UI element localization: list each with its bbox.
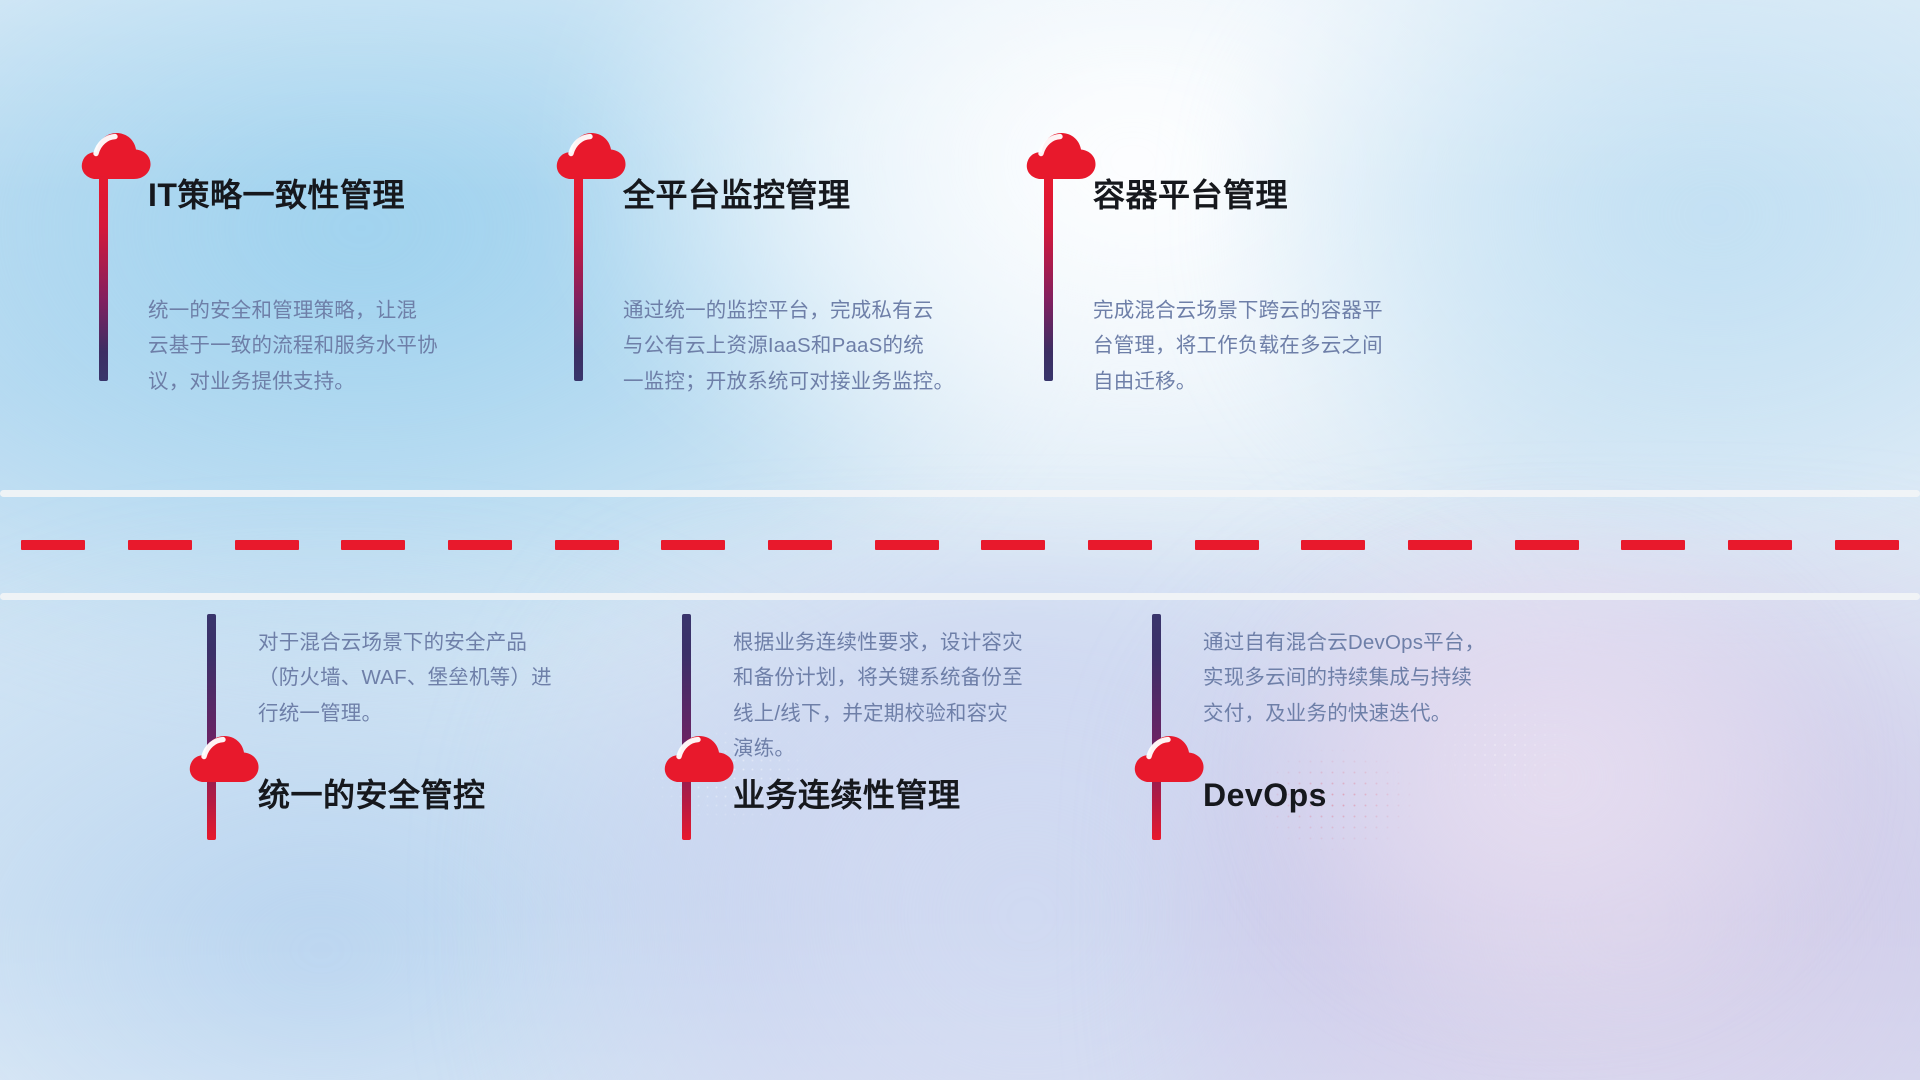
cloud-icon xyxy=(80,131,152,181)
connector-stem xyxy=(1044,172,1053,381)
dash-segment xyxy=(661,540,725,550)
cloud-icon xyxy=(1025,131,1097,181)
dash-segment xyxy=(1088,540,1152,550)
top-item-3-body: 完成混合云场景下跨云的容器平 台管理，将工作负载在多云之间 自由迁移。 xyxy=(1093,293,1503,399)
bottom-item-2-heading: 业务连续性管理 xyxy=(733,778,961,813)
dash-segment xyxy=(1621,540,1685,550)
cloud-icon xyxy=(555,131,627,181)
cloud-icon xyxy=(663,734,735,784)
top-row: IT策略一致性管理 统一的安全和管理策略，让混 云基于一致的流程和服务水平协 议… xyxy=(0,0,1920,490)
bottom-item-1-heading: 统一的安全管控 xyxy=(258,778,486,813)
bottom-item-3-heading: DevOps xyxy=(1203,778,1327,813)
top-item-1-body: 统一的安全和管理策略，让混 云基于一致的流程和服务水平协 议，对业务提供支持。 xyxy=(148,293,528,399)
dash-segment xyxy=(128,540,192,550)
bottom-item-3-body: 通过自有混合云DevOps平台， 实现多云间的持续集成与持续 交付，及业务的快速… xyxy=(1203,625,1603,731)
dash-segment xyxy=(341,540,405,550)
top-item-3-heading: 容器平台管理 xyxy=(1093,178,1288,213)
connector-stem xyxy=(99,172,108,381)
cloud-icon xyxy=(188,734,260,784)
dash-segment xyxy=(1515,540,1579,550)
dash-segment xyxy=(1835,540,1899,550)
dash-segment xyxy=(1728,540,1792,550)
top-item-1-heading: IT策略一致性管理 xyxy=(148,178,405,213)
top-item-3: 容器平台管理 完成混合云场景下跨云的容器平 台管理，将工作负载在多云之间 自由迁… xyxy=(945,0,1645,490)
dash-segment xyxy=(981,540,1045,550)
divider-rule-top xyxy=(0,490,1920,497)
cloud-icon xyxy=(1133,734,1205,784)
dash-segment xyxy=(1301,540,1365,550)
connector-stem xyxy=(574,172,583,381)
connector-stem xyxy=(682,614,691,840)
dash-segment xyxy=(235,540,299,550)
dash-segment xyxy=(21,540,85,550)
dash-segment xyxy=(768,540,832,550)
dash-segment xyxy=(1408,540,1472,550)
dash-segment xyxy=(448,540,512,550)
dash-segment xyxy=(555,540,619,550)
dashed-line xyxy=(0,540,1920,550)
connector-stem xyxy=(1152,614,1161,840)
dash-segment xyxy=(875,540,939,550)
divider-rule-bottom xyxy=(0,593,1920,600)
bottom-row: 对于混合云场景下的安全产品 （防火墙、WAF、堡垒机等）进 行统一管理。 统一的… xyxy=(0,600,1920,1080)
bottom-item-3: 通过自有混合云DevOps平台， 实现多云间的持续集成与持续 交付，及业务的快速… xyxy=(945,600,1665,1080)
dash-segment xyxy=(1195,540,1259,550)
connector-stem xyxy=(207,614,216,840)
divider-band xyxy=(0,490,1920,600)
top-item-2-heading: 全平台监控管理 xyxy=(623,178,851,213)
